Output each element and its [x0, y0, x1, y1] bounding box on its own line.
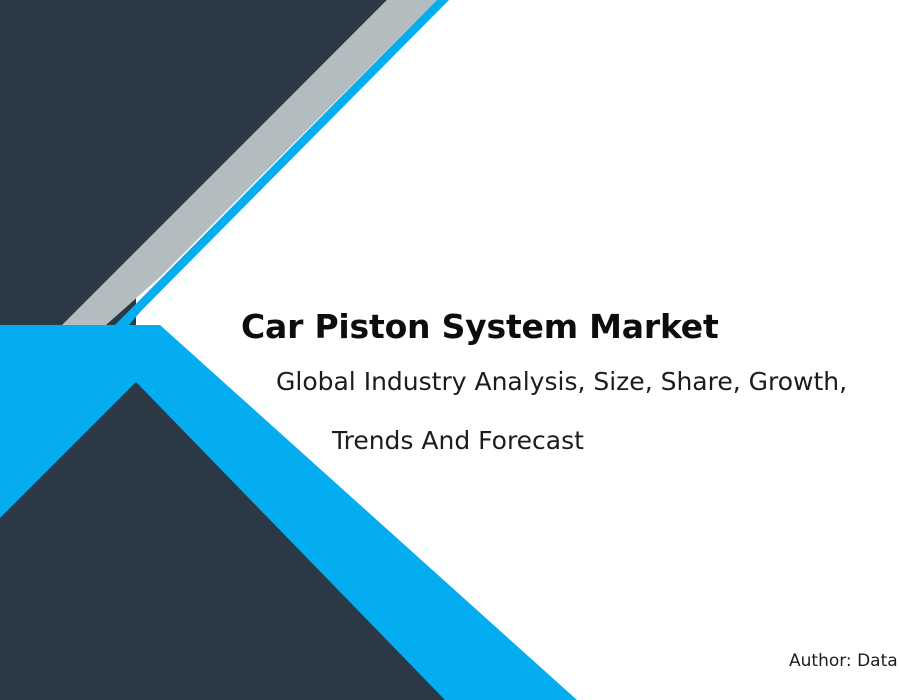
slide-subtitle-line-1: Global Industry Analysis, Size, Share, G…: [276, 369, 847, 394]
slide-text-layer: Car Piston System Market Global Industry…: [0, 0, 900, 700]
slide-subtitle-line-2: Trends And Forecast: [332, 428, 584, 453]
title-slide: Car Piston System Market Global Industry…: [0, 0, 900, 700]
author-label: Author: Data: [789, 653, 898, 670]
slide-title: Car Piston System Market: [241, 310, 719, 343]
